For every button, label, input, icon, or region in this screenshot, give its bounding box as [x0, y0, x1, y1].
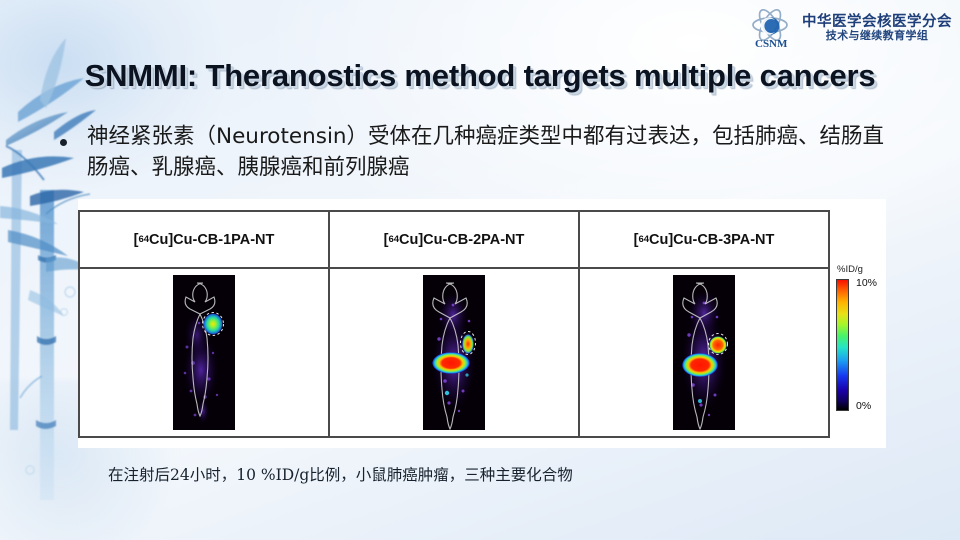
- colorbar-legend: %ID/g 10% 0%: [836, 264, 902, 411]
- colorbar-min-label: 0%: [856, 400, 871, 412]
- pet-scan-3pa: [673, 275, 735, 430]
- header-isotope-mass: 64: [388, 234, 399, 245]
- header-isotope-mass: 64: [138, 234, 149, 245]
- csnm-atom-logo-icon: CSNM: [749, 6, 795, 50]
- svg-text:CSNM: CSNM: [755, 38, 788, 50]
- slide-canvas: CSNM 中华医学会核医学分会 技术与继续教育学组 SNMMI: Therano…: [0, 0, 960, 540]
- pet-scan-2pa: [423, 275, 485, 430]
- bullet-list-item: 神经紧张素（Neurotensin）受体在几种癌症类型中都有过表达，包括肺癌、结…: [60, 122, 910, 183]
- colorbar-ticks: 10% 0%: [856, 279, 902, 409]
- header-isotope-mass: 64: [638, 234, 649, 245]
- column-header-2pa: [64Cu]Cu-CB-2PA-NT: [328, 212, 578, 267]
- header-compound-rest: Cu]Cu-CB-1PA-NT: [149, 232, 274, 248]
- colorbar-max-label: 10%: [856, 277, 877, 289]
- logo-title-line1: 中华医学会核医学分会: [802, 14, 952, 30]
- page-title: SNMMI: Theranostics method targets multi…: [0, 58, 960, 94]
- pet-scan-1pa: [173, 275, 235, 430]
- table-body-row: [80, 269, 828, 436]
- table-cell-pet-2: [328, 269, 578, 436]
- header-compound-rest: Cu]Cu-CB-2PA-NT: [399, 232, 524, 248]
- csnm-logo: CSNM 中华医学会核医学分会 技术与继续教育学组: [749, 6, 952, 50]
- table-header-row: [64Cu]Cu-CB-1PA-NT [64Cu]Cu-CB-2PA-NT [6…: [80, 212, 828, 269]
- bullet-marker-icon: [60, 139, 67, 146]
- table-cell-pet-1: [80, 269, 328, 436]
- colorbar-unit-label: %ID/g: [837, 264, 902, 275]
- bullet-item-text: 神经紧张素（Neurotensin）受体在几种癌症类型中都有过表达，包括肺癌、结…: [87, 122, 887, 183]
- logo-title-line2: 技术与继续教育学组: [802, 30, 952, 42]
- column-header-3pa: [64Cu]Cu-CB-3PA-NT: [578, 212, 828, 267]
- table-cell-pet-3: [578, 269, 828, 436]
- colorbar-gradient: [836, 279, 849, 411]
- pet-comparison-table: [64Cu]Cu-CB-1PA-NT [64Cu]Cu-CB-2PA-NT [6…: [78, 210, 830, 438]
- figure-caption: 在注射后24小时，10 %ID/g比例，小鼠肺癌肿瘤，三种主要化合物: [108, 463, 573, 485]
- header-compound-rest: Cu]Cu-CB-3PA-NT: [649, 232, 774, 248]
- column-header-1pa: [64Cu]Cu-CB-1PA-NT: [80, 212, 328, 267]
